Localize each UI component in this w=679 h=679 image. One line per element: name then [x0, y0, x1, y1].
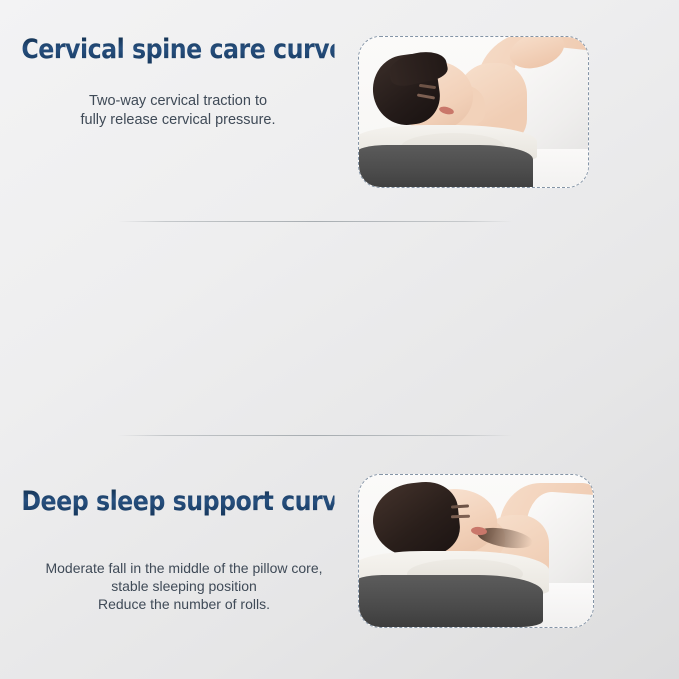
pillow-dark-base: [358, 145, 533, 188]
section-1-heading: Cervical spine care curve: [21, 36, 334, 64]
pillow-photo-side-sleeping: [359, 37, 588, 187]
section-1-photo-panel: [358, 36, 589, 188]
feature-section-shoulder-neck: Shoulder and neck care curve Provide com…: [0, 440, 679, 660]
feature-section-deep-sleep: Deep sleep support curve Moderate fall i…: [0, 220, 679, 440]
section-divider: [118, 435, 513, 436]
product-infographic: Cervical spine care curve Two-way cervic…: [0, 0, 679, 679]
section-1-description: Two-way cervical traction to fully relea…: [0, 92, 356, 129]
feature-section-cervical-spine: Cervical spine care curve Two-way cervic…: [0, 0, 679, 220]
